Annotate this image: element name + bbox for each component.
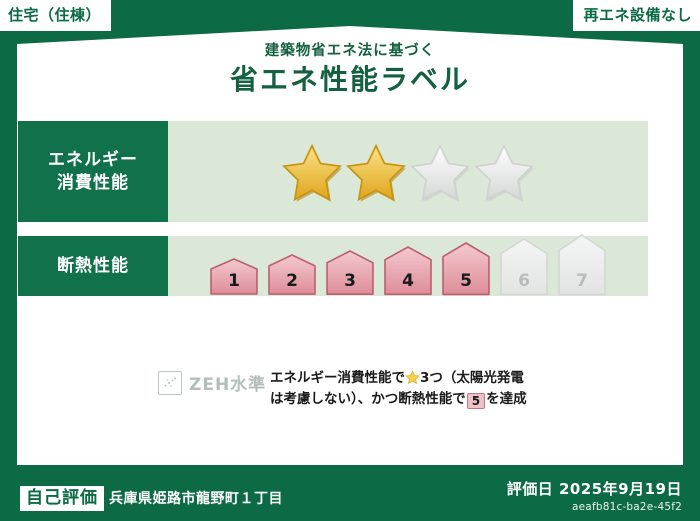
energy-performance-row: エネルギー 消費性能 bbox=[17, 120, 649, 223]
insulation-level-3: 3 bbox=[323, 248, 378, 296]
energy-performance-row-header: エネルギー 消費性能 bbox=[18, 121, 168, 222]
desc-line2-b: を達成 bbox=[486, 391, 527, 407]
insulation-level-7: 7 bbox=[555, 232, 610, 297]
renewable-equipment-tag: 再エネ設備なし bbox=[573, 0, 700, 31]
insulation-performance-row-body: 1234567 bbox=[168, 236, 648, 296]
insulation-level-number: 7 bbox=[555, 271, 610, 291]
page-title: 省エネ性能ラベル bbox=[0, 58, 700, 98]
zeh-standard-indicator: ZEH水準 bbox=[158, 370, 266, 395]
insulation-level-chip: 5 bbox=[467, 393, 485, 409]
energy-label-line2: 消費性能 bbox=[57, 172, 129, 195]
desc-line1-b: 3つ（太陽光発電 bbox=[420, 370, 524, 386]
zeh-sparkle-icon bbox=[158, 371, 182, 395]
insulation-level-number: 1 bbox=[207, 271, 262, 291]
insulation-level-1: 1 bbox=[207, 256, 262, 296]
footer-left: 自己評価 兵庫県姫路市龍野町１丁目 bbox=[20, 486, 283, 511]
insulation-level-scale: 1234567 bbox=[168, 232, 648, 301]
insulation-performance-row-header: 断熱性能 bbox=[18, 236, 168, 296]
insulation-level-number: 4 bbox=[381, 271, 436, 291]
insulation-level-number: 6 bbox=[497, 271, 552, 291]
energy-performance-row-body bbox=[168, 121, 648, 222]
star-icon bbox=[405, 370, 420, 385]
star-filled-icon bbox=[281, 142, 343, 202]
insulation-level-5: 5 bbox=[439, 240, 494, 296]
insulation-level-number: 2 bbox=[265, 271, 320, 291]
desc-line1-a: エネルギー消費性能で bbox=[270, 370, 405, 386]
achievement-description: エネルギー消費性能で3つ（太陽光発電 は考慮しない）、かつ断熱性能で5を達成 bbox=[270, 368, 570, 410]
building-type-tag: 住宅（住棟） bbox=[0, 0, 111, 31]
insulation-level-number: 5 bbox=[439, 271, 494, 291]
evaluation-date-label: 評価日 bbox=[507, 480, 554, 498]
star-filled-icon bbox=[345, 142, 407, 202]
energy-label-line1: エネルギー bbox=[48, 149, 138, 172]
insulation-level-2: 2 bbox=[265, 252, 320, 296]
insulation-level-4: 4 bbox=[381, 244, 436, 296]
star-empty-icon bbox=[409, 142, 471, 202]
label-uuid: aeafb81c-ba2e-45f2 bbox=[507, 501, 682, 513]
evaluation-date-value: 2025年9月19日 bbox=[559, 480, 682, 498]
footer-right: 評価日 2025年9月19日 aeafb81c-ba2e-45f2 bbox=[507, 478, 682, 513]
star-rating bbox=[168, 142, 648, 202]
self-evaluation-badge: 自己評価 bbox=[20, 486, 104, 511]
evaluation-date: 評価日 2025年9月19日 bbox=[507, 478, 682, 499]
insulation-label: 断熱性能 bbox=[57, 255, 129, 278]
insulation-level-6: 6 bbox=[497, 236, 552, 297]
insulation-level-number: 3 bbox=[323, 271, 378, 291]
desc-line2-a: は考慮しない）、かつ断熱性能で bbox=[270, 391, 466, 407]
insulation-performance-row: 断熱性能 1234567 bbox=[17, 235, 649, 297]
star-empty-icon bbox=[473, 142, 535, 202]
property-address: 兵庫県姫路市龍野町１丁目 bbox=[109, 488, 283, 508]
zeh-label: ZEH水準 bbox=[189, 370, 266, 395]
energy-performance-label: 住宅（住棟） 再エネ設備なし 建築物省エネ法に基づく 省エネ性能ラベル エネルギ… bbox=[0, 0, 700, 521]
label-subtitle: 建築物省エネ法に基づく bbox=[0, 39, 700, 60]
